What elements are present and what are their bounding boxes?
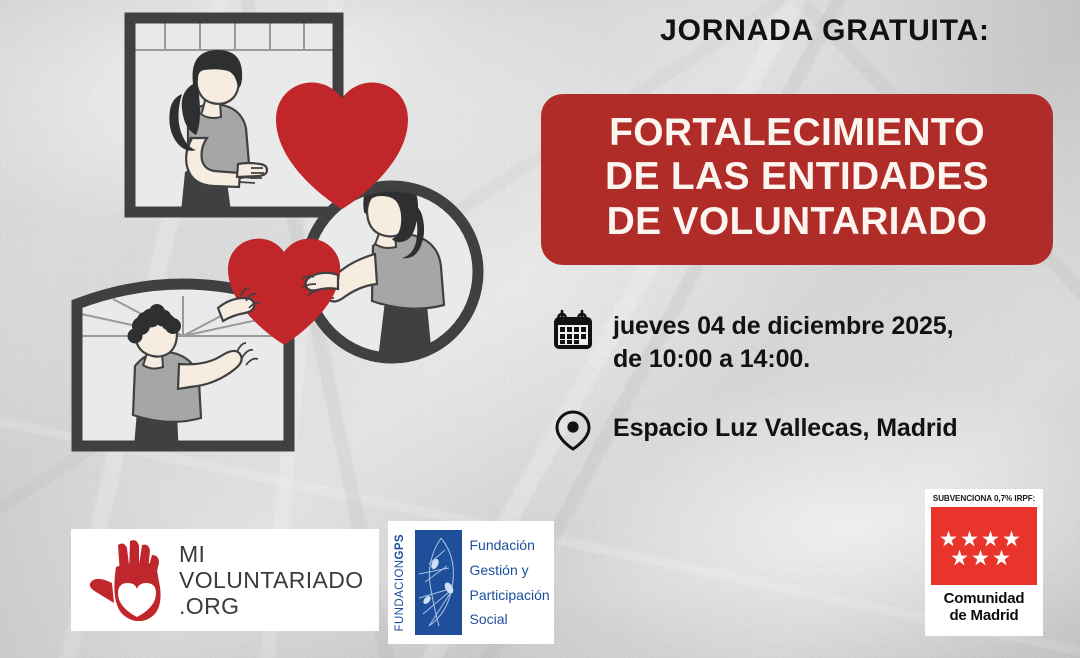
mivoluntariado-line-2: VOLUNTARIADO [179,567,364,593]
fundacion-gps-logo[interactable]: FUNDACIONGPS Fundación Gestión y Partici [388,521,554,644]
map-pin-icon [551,406,595,452]
title-line-3: DE VOLUNTARIADO [557,200,1037,244]
title-line-1: FORTALECIMIENTO [557,111,1037,155]
mivoluntariado-logo[interactable]: MI VOLUNTARIADO .ORG [71,529,379,631]
mivoluntariado-wordmark: MI VOLUNTARIADO .ORG [179,541,364,619]
madrid-star [993,550,1010,567]
fundacion-gps-line-1: Fundación [470,533,550,558]
madrid-name-line-1: Comunidad [931,591,1037,608]
madrid-star [972,550,989,567]
madrid-star [982,531,999,548]
top-hand-over-heart [237,163,267,178]
event-date-line-1: jueves 04 de diciembre 2025, [613,310,953,343]
people-sharing-hearts-illustration [55,0,525,476]
fundacion-gps-vertical-bold: GPS [394,534,406,560]
title-badge: FORTALECIMIENTO DE LAS ENTIDADES DE VOLU… [541,94,1053,265]
madrid-star [961,531,978,548]
title-line-2: DE LAS ENTIDADES [557,155,1037,199]
fundacion-gps-emblem [415,530,462,635]
madrid-star [1003,531,1020,548]
fundacion-gps-line-3: Participación [470,583,550,608]
event-place-row: Espacio Luz Vallecas, Madrid [551,406,958,452]
madrid-star [951,550,968,567]
event-date-text: jueves 04 de diciembre 2025, de 10:00 a … [613,308,953,377]
fundacion-gps-line-2: Gestión y [470,558,550,583]
madrid-name: Comunidad de Madrid [931,591,1037,625]
event-date-line-2: de 10:00 a 14:00. [613,343,953,376]
fundacion-gps-vertical-wordmark: FUNDACIONGPS [395,534,407,631]
madrid-flag [931,507,1037,585]
poster: JORNADA GRATUITA: FORTALECIMIENTO DE LAS… [0,0,1080,658]
calendar-icon [551,308,595,354]
mivoluntariado-line-1: MI [179,541,364,567]
fundacion-gps-vertical-regular: FUNDACION [394,559,406,631]
kicker-text: JORNADA GRATUITA: [605,14,1045,48]
red-hand-with-heart-icon [88,539,166,621]
comunidad-de-madrid-logo[interactable]: SUBVENCIONA 0,7% IRPF: Comunidad de Madr… [925,489,1043,636]
madrid-star [940,531,957,548]
event-date-row: jueves 04 de diciembre 2025, de 10:00 a … [551,308,953,377]
event-place-text: Espacio Luz Vallecas, Madrid [613,412,958,445]
mivoluntariado-line-3: .ORG [179,593,364,619]
fundacion-gps-line-4: Social [470,607,550,632]
madrid-name-line-2: de Madrid [931,608,1037,625]
fundacion-gps-name: Fundación Gestión y Participación Social [470,533,550,633]
madrid-subsidy-text: SUBVENCIONA 0,7% IRPF: [931,494,1037,505]
